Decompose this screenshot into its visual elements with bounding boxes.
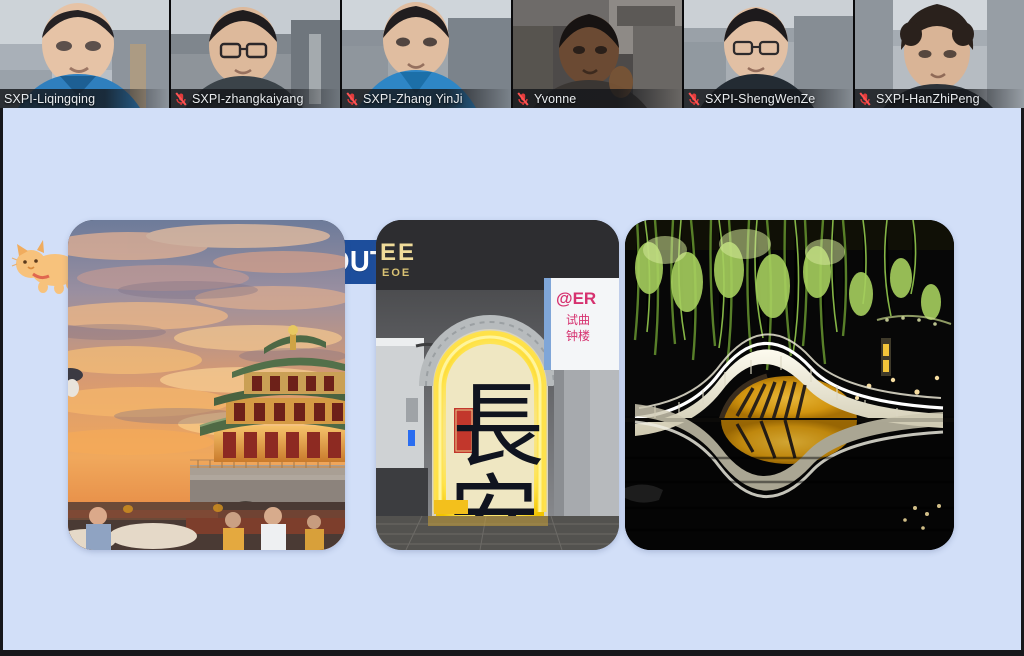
mic-muted-icon <box>688 92 700 106</box>
photo-image <box>625 220 954 550</box>
mic-muted-icon <box>517 92 529 106</box>
svg-text:長: 長 <box>452 373 544 480</box>
bell-tower-photo[interactable] <box>68 220 345 550</box>
photo-image <box>68 220 345 550</box>
participant-tile[interactable]: SXPI-ShengWenZe <box>684 0 855 108</box>
photo-row: EE EOE <box>3 220 1021 550</box>
participant-name-bar: SXPI-Liqingqing <box>0 89 169 108</box>
mic-muted-icon <box>859 92 871 106</box>
participant-name: Yvonne <box>534 92 576 106</box>
mic-muted-icon <box>346 92 358 106</box>
participant-name-bar: SXPI-HanZhiPeng <box>855 89 1024 108</box>
participant-name: SXPI-Liqingqing <box>4 92 95 106</box>
participant-name-bar: SXPI-Zhang YinJi <box>342 89 511 108</box>
svg-text:EE: EE <box>380 239 416 266</box>
participant-name: SXPI-ShengWenZe <box>705 92 815 106</box>
participant-name: SXPI-Zhang YinJi <box>363 92 463 106</box>
svg-text:EOE: EOE <box>382 267 411 279</box>
participant-name: SXPI-zhangkaiyang <box>192 92 304 106</box>
moon-bridge-photo[interactable] <box>625 220 954 550</box>
participant-name-bar: Yvonne <box>513 89 682 108</box>
participant-tile[interactable]: SXPI-Zhang YinJi <box>342 0 513 108</box>
svg-text:钟楼: 钟楼 <box>566 328 590 343</box>
changan-gate-photo[interactable]: EE EOE <box>376 220 619 550</box>
mic-muted-icon <box>175 92 187 106</box>
photo-image: EE EOE <box>376 220 619 550</box>
participant-name: SXPI-HanZhiPeng <box>876 92 980 106</box>
participant-name-bar: SXPI-zhangkaiyang <box>171 89 340 108</box>
svg-text:试曲: 试曲 <box>566 312 590 327</box>
svg-text:@ER: @ER <box>556 289 596 308</box>
participant-name-bar: SXPI-ShengWenZe <box>684 89 853 108</box>
participant-tile[interactable]: SXPI-Liqingqing <box>0 0 171 108</box>
shared-slide[interactable]: SHARE A DAY ABOUT MY HOLIDAY <box>3 108 1021 650</box>
participant-tile[interactable]: SXPI-HanZhiPeng <box>855 0 1024 108</box>
screen: SXPI-Liqingqing <box>0 0 1024 656</box>
participant-tile[interactable]: Yvonne <box>513 0 684 108</box>
participant-tile[interactable]: SXPI-zhangkaiyang <box>171 0 342 108</box>
participant-video-strip: SXPI-Liqingqing <box>0 0 1024 108</box>
